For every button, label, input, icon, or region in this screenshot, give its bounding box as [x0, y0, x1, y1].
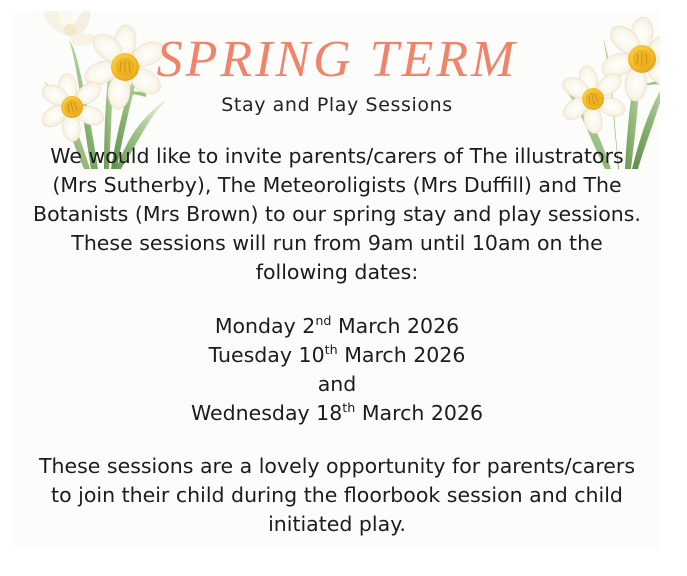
date-ordinal-3: th — [342, 400, 355, 415]
date-day-3: Wednesday — [191, 401, 310, 425]
poster-body: We would like to invite parents/carers o… — [28, 142, 646, 539]
date-line-2: Tuesday 10th March 2026 — [28, 341, 646, 370]
poster-card: SPRING TERM Stay and Play Sessions We wo… — [14, 11, 660, 549]
closing-paragraph: These sessions are a lovely opportunity … — [28, 452, 646, 539]
date-month-year-3: March 2026 — [362, 401, 483, 425]
spacer-before-dates — [28, 288, 646, 312]
date-ordinal-1: nd — [315, 313, 331, 328]
date-number-3: 18 — [316, 401, 342, 425]
poster-header: SPRING TERM Stay and Play Sessions — [14, 11, 660, 117]
date-month-year-2: March 2026 — [344, 343, 465, 367]
times-paragraph: These sessions will run from 9am until 1… — [28, 229, 646, 287]
date-month-year-1: March 2026 — [338, 314, 459, 338]
date-line-3: Wednesday 18th March 2026 — [28, 399, 646, 428]
page-title: SPRING TERM — [14, 11, 660, 87]
date-ordinal-2: th — [325, 342, 338, 357]
date-number-1: 2 — [302, 314, 315, 338]
date-line-1: Monday 2nd March 2026 — [28, 312, 646, 341]
intro-paragraph: We would like to invite parents/carers o… — [28, 142, 646, 229]
date-day-1: Monday — [215, 314, 296, 338]
page-subtitle: Stay and Play Sessions — [14, 87, 660, 117]
date-day-2: Tuesday — [209, 343, 292, 367]
dates-conjunction: and — [28, 370, 646, 399]
date-number-2: 10 — [299, 343, 325, 367]
spacer-after-dates — [28, 428, 646, 452]
spring-term-poster: SPRING TERM Stay and Play Sessions We wo… — [0, 0, 687, 576]
